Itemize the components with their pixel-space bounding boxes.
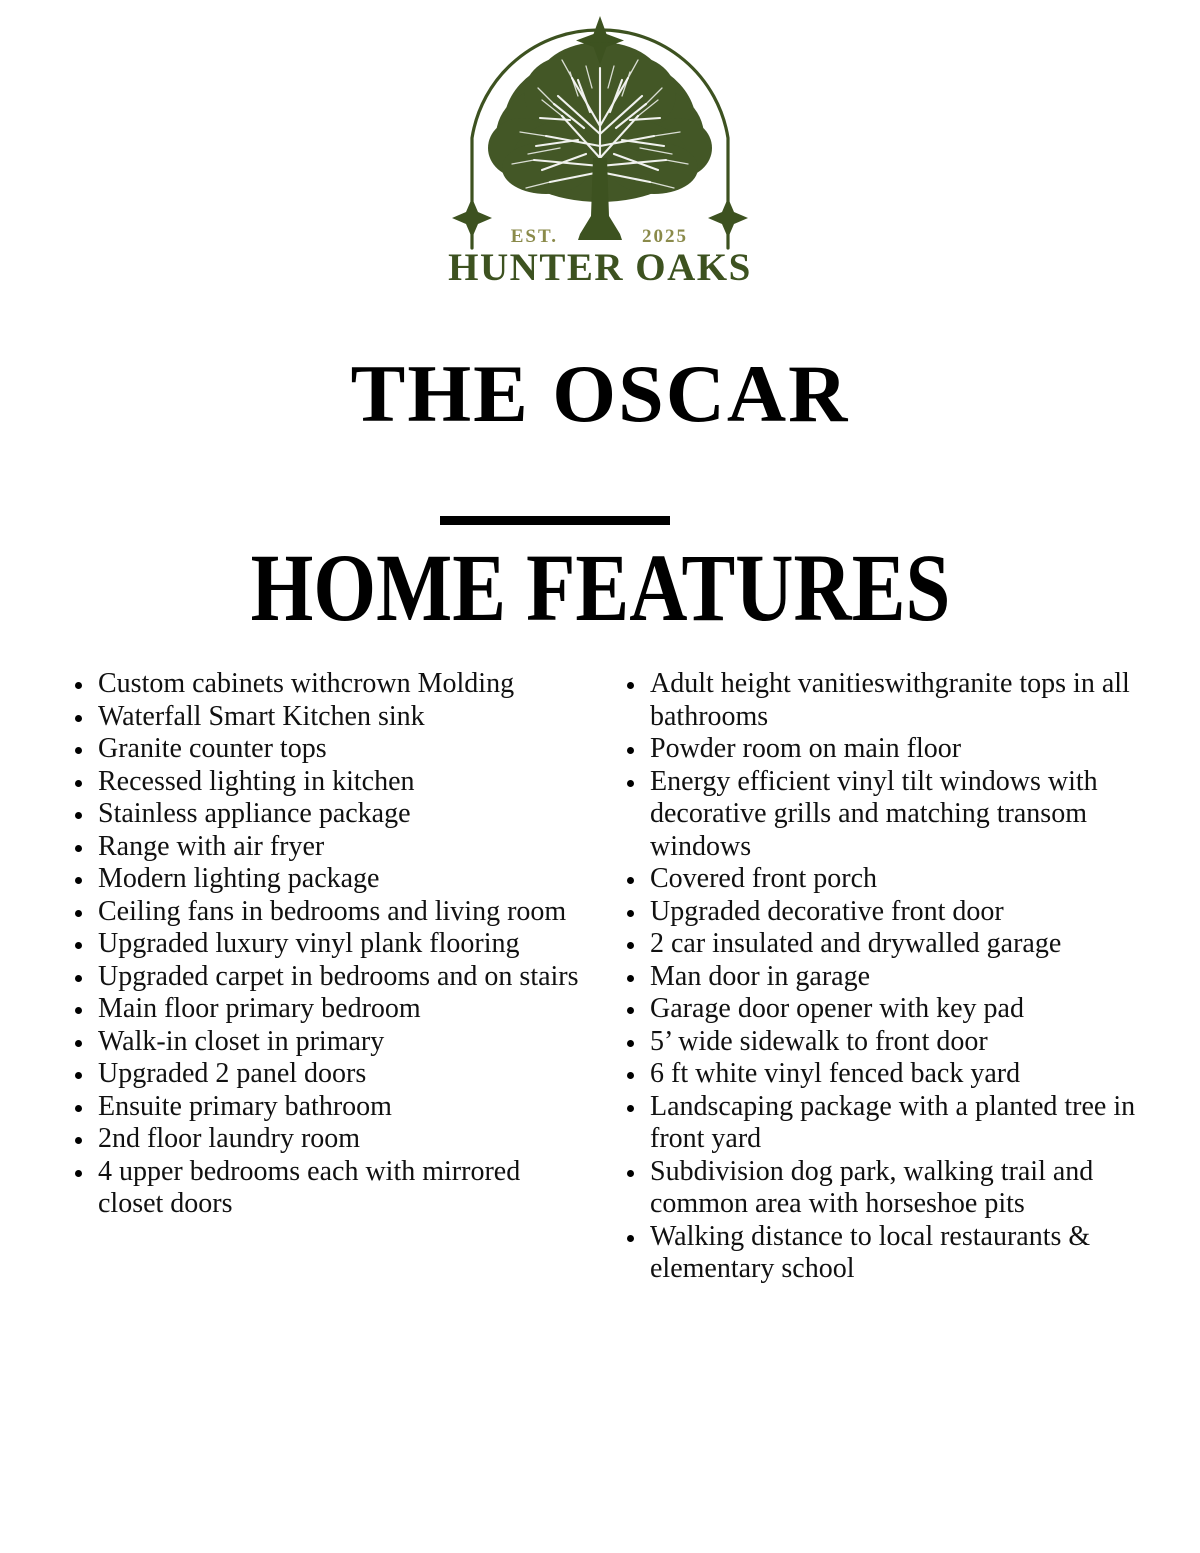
feature-item: Garage door opener with key pad <box>614 993 1172 1026</box>
feature-list-right: Adult height vanitieswithgranite tops in… <box>614 668 1172 1286</box>
feature-item: 2 car insulated and drywalled garage <box>614 928 1172 961</box>
feature-item: Granite counter tops <box>62 733 582 766</box>
section-title: HOME FEATURES <box>250 538 950 639</box>
feature-item: Stainless appliance package <box>62 798 582 831</box>
feature-item: Man door in garage <box>614 961 1172 994</box>
feature-item: Waterfall Smart Kitchen sink <box>62 701 582 734</box>
feature-item: Custom cabinets withcrown Molding <box>62 668 582 701</box>
feature-item: Powder room on main floor <box>614 733 1172 766</box>
feature-item: Energy efficient vinyl tilt windows with… <box>614 766 1172 864</box>
feature-list-left: Custom cabinets withcrown MoldingWaterfa… <box>62 668 582 1221</box>
feature-item: Ceiling fans in bedrooms and living room <box>62 896 582 929</box>
feature-item: Walk-in closet in primary <box>62 1026 582 1059</box>
feature-item: Upgraded luxury vinyl plank flooring <box>62 928 582 961</box>
feature-item: Subdivision dog park, walking trail and … <box>614 1156 1172 1221</box>
feature-item: Walking distance to local restaurants & … <box>614 1221 1172 1286</box>
feature-item: 4 upper bedrooms each with mirrored clos… <box>62 1156 582 1221</box>
feature-item: Ensuite primary bathroom <box>62 1091 582 1124</box>
feature-item: Covered front porch <box>614 863 1172 896</box>
oak-tree-icon <box>488 42 712 240</box>
feature-item: Adult height vanitieswithgranite tops in… <box>614 668 1172 733</box>
feature-item: Landscaping package with a planted tree … <box>614 1091 1172 1156</box>
feature-item: Range with air fryer <box>62 831 582 864</box>
feature-item: Upgraded 2 panel doors <box>62 1058 582 1091</box>
features-columns: Custom cabinets withcrown MoldingWaterfa… <box>0 668 1200 1286</box>
feature-item: 2nd floor laundry room <box>62 1123 582 1156</box>
feature-item: Recessed lighting in kitchen <box>62 766 582 799</box>
page-title: THE OSCAR <box>0 351 1200 437</box>
feature-item: 5’ wide sidewalk to front door <box>614 1026 1172 1059</box>
brand-wordmark: HUNTER OAKS <box>0 248 1200 287</box>
feature-item: 6 ft white vinyl fenced back yard <box>614 1058 1172 1091</box>
features-right-column: Adult height vanitieswithgranite tops in… <box>600 668 1200 1286</box>
feature-item: Upgraded decorative front door <box>614 896 1172 929</box>
feature-item: Main floor primary bedroom <box>62 993 582 1026</box>
features-left-column: Custom cabinets withcrown MoldingWaterfa… <box>0 668 600 1221</box>
feature-item: Upgraded carpet in bedrooms and on stair… <box>62 961 582 994</box>
section-title-underline-artifact <box>440 516 670 525</box>
feature-item: Modern lighting package <box>62 863 582 896</box>
